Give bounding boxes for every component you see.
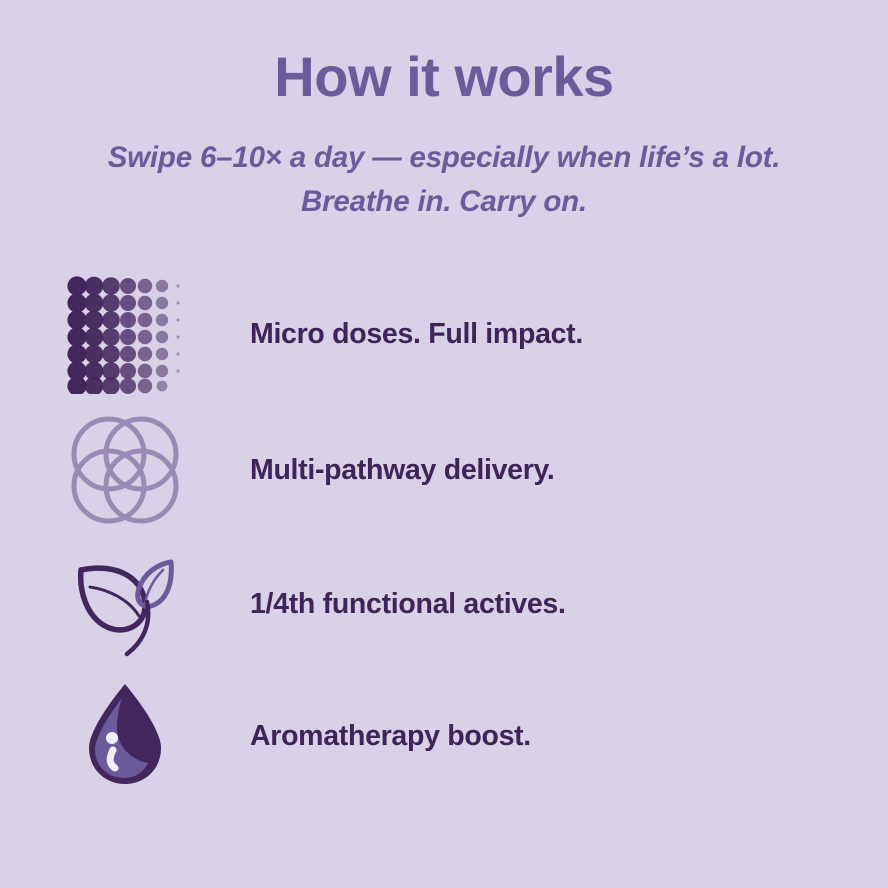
feature-item-multi-pathway: Multi-pathway delivery. (0, 405, 888, 535)
header: How it works Swipe 6–10× a day — especia… (0, 0, 888, 225)
how-it-works-panel: How it works Swipe 6–10× a day — especia… (0, 0, 888, 888)
page-title: How it works (0, 46, 888, 108)
subtitle: Swipe 6–10× a day — especially when life… (16, 136, 872, 226)
feature-item-aromatherapy: Aromatherapy boost. (0, 671, 888, 801)
feature-label: 1/4th functional actives. (250, 587, 566, 621)
dot-grid-icon (65, 274, 185, 394)
feature-item-micro-doses: Micro doses. Full impact. (0, 269, 888, 399)
subtitle-line-2: Breathe in. Carry on. (16, 180, 872, 225)
feature-item-functional-actives: 1/4th functional actives. (0, 539, 888, 669)
icon-cell (0, 676, 250, 796)
droplet-icon (65, 676, 185, 796)
leaf-sprout-icon (65, 544, 185, 664)
overlapping-circles-icon (65, 410, 185, 530)
subtitle-line-1: Swipe 6–10× a day — especially when life… (16, 136, 872, 181)
icon-cell (0, 410, 250, 530)
icon-cell (0, 274, 250, 394)
feature-label: Multi-pathway delivery. (250, 453, 555, 487)
icon-cell (0, 544, 250, 664)
feature-list: Micro doses. Full impact. Multi-pathway … (0, 269, 888, 801)
feature-label: Aromatherapy boost. (250, 719, 531, 753)
feature-label: Micro doses. Full impact. (250, 317, 583, 351)
